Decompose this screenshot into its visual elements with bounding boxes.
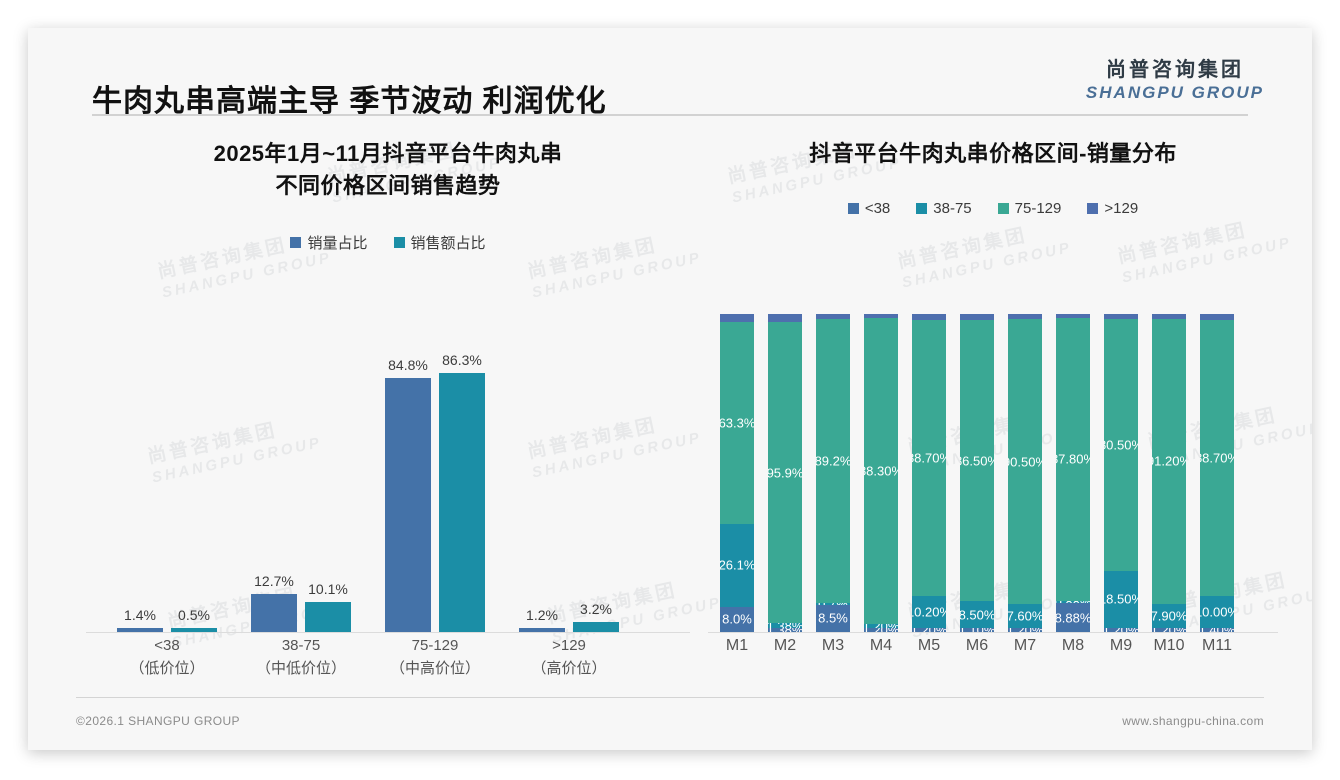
left-chart-x-tick-label: 38-75（中低价位） — [234, 635, 368, 680]
stacked-segment[interactable]: 90.50% — [1008, 319, 1042, 604]
segment-value-label: 26.1% — [720, 558, 754, 573]
stacked-segment[interactable]: 1.20% — [1008, 628, 1042, 632]
bar-value-label: 1.2% — [526, 607, 558, 623]
right-chart-x-axis-line — [708, 632, 1278, 633]
bar-fill — [573, 622, 619, 632]
legend-swatch-icon — [998, 203, 1009, 214]
legend-label: 75-129 — [1015, 200, 1062, 217]
legend-swatch-icon — [916, 203, 927, 214]
segment-value-label: 1.10% — [960, 628, 994, 632]
right-chart-legend: <3838-7575-129>129 — [708, 200, 1278, 217]
bar-fill — [171, 628, 217, 632]
stacked-segment[interactable]: 88.70% — [1200, 320, 1234, 597]
right-chart-stacked-column[interactable]: 2.6%63.3%26.1%8.0% — [720, 314, 754, 632]
chart-panel-right: 抖音平台牛肉丸串价格区间-销量分布 <3838-7575-129>129 2.6… — [708, 138, 1278, 698]
segment-value-label: 95.9% — [768, 465, 802, 480]
left-chart-bar[interactable]: 0.5% — [171, 628, 217, 632]
bar-value-label: 84.8% — [388, 357, 428, 373]
left-legend-item[interactable]: 销售额占比 — [394, 232, 486, 253]
stacked-segment[interactable]: 8.88% — [1056, 603, 1090, 632]
left-legend-item[interactable]: 销量占比 — [290, 232, 367, 253]
right-legend-item[interactable]: <38 — [848, 200, 890, 217]
stacked-segment[interactable]: 1.38% — [768, 628, 802, 632]
right-chart-x-tick-label: M6 — [960, 637, 994, 655]
bar-fill — [519, 628, 565, 632]
stacked-segment[interactable]: 10.00% — [1200, 596, 1234, 627]
bar-value-label: 0.5% — [178, 607, 210, 623]
right-chart-stacked-column[interactable]: 1.6%89.2%0.7%8.5% — [816, 314, 850, 632]
segment-value-label: 1.20% — [1008, 628, 1042, 632]
segment-value-label: 1.20% — [1104, 628, 1138, 632]
bar-value-label: 12.7% — [254, 573, 294, 589]
right-chart-x-tick-label: M8 — [1056, 637, 1090, 655]
right-chart-plot-area: 2.6%63.3%26.1%8.0%M12.6%95.9%1.38%1.38%M… — [708, 313, 1278, 633]
x-tick-sublabel: （中高价位） — [368, 658, 502, 681]
left-chart-title-line1: 2025年1月~11月抖音平台牛肉丸串 — [78, 138, 698, 170]
legend-label: 销量占比 — [307, 232, 367, 253]
stacked-segment[interactable]: 91.20% — [1152, 319, 1186, 604]
stacked-segment[interactable]: 8.5% — [816, 605, 850, 632]
right-chart-x-tick-label: M10 — [1152, 637, 1186, 655]
left-chart-x-tick-label: >129（高价位） — [502, 635, 636, 680]
left-chart-bar-group: 1.2%3.2% — [502, 622, 636, 632]
x-tick-range: <38 — [154, 637, 179, 654]
legend-label: <38 — [865, 200, 890, 217]
segment-value-label: 7.60% — [1008, 609, 1042, 624]
left-chart-title: 2025年1月~11月抖音平台牛肉丸串 不同价格区间销售趋势 — [78, 138, 698, 202]
bar-fill — [385, 378, 431, 632]
bar-value-label: 86.3% — [442, 352, 482, 368]
right-legend-item[interactable]: >129 — [1087, 200, 1138, 217]
right-chart-x-tick-label: M11 — [1200, 637, 1234, 655]
segment-value-label: 1.38% — [768, 628, 802, 632]
stacked-segment[interactable]: 2.6% — [720, 314, 754, 322]
segment-value-label: 7.90% — [1152, 608, 1186, 623]
stacked-segment[interactable]: 87.80% — [1056, 318, 1090, 601]
stacked-segment[interactable]: 1.20% — [864, 628, 898, 632]
left-chart-bar[interactable]: 1.2% — [519, 628, 565, 632]
brand-logo: 尚普咨询集团 SHANGPU GROUP — [1086, 60, 1264, 101]
left-chart-bar-group: 1.4%0.5% — [100, 628, 234, 632]
logo-chinese-text: 尚普咨询集团 — [1086, 60, 1264, 80]
stacked-segment[interactable]: 8.50% — [960, 601, 994, 629]
x-tick-range: >129 — [552, 637, 586, 654]
x-tick-sublabel: （低价位） — [100, 658, 234, 681]
slide-header: 牛肉丸串高端主导 季节波动 利润优化 尚普咨询集团 SHANGPU GROUP — [28, 28, 1312, 114]
bar-fill — [117, 628, 163, 632]
stacked-segment[interactable]: 1.20% — [1152, 628, 1186, 632]
segment-value-label: 91.20% — [1152, 454, 1186, 469]
stacked-segment[interactable]: 7.90% — [1152, 604, 1186, 629]
stacked-segment[interactable]: 95.9% — [768, 322, 802, 623]
left-chart-x-tick-label: 75-129（中高价位） — [368, 635, 502, 680]
right-chart-x-tick-label: M4 — [864, 637, 898, 655]
segment-value-label: 1.20% — [912, 628, 946, 632]
right-chart-x-tick-label: M5 — [912, 637, 946, 655]
legend-swatch-icon — [290, 237, 301, 248]
bar-fill — [251, 594, 297, 632]
left-chart-bar[interactable]: 12.7% — [251, 594, 297, 632]
left-chart-bar[interactable]: 84.8% — [385, 378, 431, 632]
stacked-segment[interactable]: 26.1% — [720, 524, 754, 607]
segment-value-label: 90.50% — [1008, 454, 1042, 469]
stacked-segment[interactable]: 88.70% — [912, 320, 946, 597]
bar-fill — [305, 602, 351, 632]
segment-value-label: 8.88% — [1056, 610, 1090, 625]
segment-value-label: 87.80% — [1056, 452, 1090, 467]
right-chart-stacked-column[interactable]: 1.60%91.20%7.90%1.20% — [1152, 314, 1186, 632]
segment-value-label: 86.50% — [960, 453, 994, 468]
right-chart-stacked-column[interactable]: 1.90%86.50%8.50%1.10% — [960, 314, 994, 632]
right-chart-x-tick-label: M3 — [816, 637, 850, 655]
left-chart-bar-group: 12.7%10.1% — [234, 594, 368, 632]
right-chart-x-tick-label: M2 — [768, 637, 802, 655]
slide-canvas: 牛肉丸串高端主导 季节波动 利润优化 尚普咨询集团 SHANGPU GROUP … — [28, 28, 1312, 750]
segment-value-label: 8.50% — [960, 607, 994, 622]
stacked-segment[interactable]: 89.2% — [816, 319, 850, 603]
segment-value-label: 88.70% — [912, 451, 946, 466]
segment-value-label: 10.20% — [912, 605, 946, 620]
right-chart-stacked-column[interactable]: 1.70%80.50%18.50%1.20% — [1104, 314, 1138, 632]
stacked-segment[interactable]: 10.20% — [912, 596, 946, 628]
logo-english-text: SHANGPU GROUP — [1086, 84, 1264, 101]
right-chart-x-tick-label: M9 — [1104, 637, 1138, 655]
footer-copyright: ©2026.1 SHANGPU GROUP — [76, 714, 240, 728]
right-chart-stacked-column[interactable]: 2.6%95.9%1.38%1.38% — [768, 314, 802, 632]
legend-label: 销售额占比 — [411, 232, 486, 253]
bar-value-label: 3.2% — [580, 601, 612, 617]
segment-value-label: 8.5% — [818, 611, 848, 626]
left-chart-plot-area: 1.4%0.5%<38（低价位）12.7%10.1%38-75（中低价位）84.… — [78, 313, 698, 633]
segment-value-label: 80.50% — [1104, 437, 1138, 452]
left-chart-x-tick-label: <38（低价位） — [100, 635, 234, 680]
footer-website: www.shangpu-china.com — [1122, 714, 1264, 728]
right-chart-x-tick-label: M7 — [1008, 637, 1042, 655]
stacked-segment[interactable]: 1.40% — [1200, 628, 1234, 632]
header-divider — [92, 114, 1248, 116]
right-chart-stacked-column[interactable]: 1.20%88.30%1.20%1.20% — [864, 314, 898, 632]
stacked-segment[interactable]: 1.10% — [960, 628, 994, 632]
x-tick-range: 38-75 — [282, 637, 320, 654]
left-chart-bar[interactable]: 3.2% — [573, 622, 619, 632]
segment-value-label: 88.70% — [1200, 451, 1234, 466]
bar-value-label: 10.1% — [308, 581, 348, 597]
right-chart-stacked-column[interactable]: 1.90%88.70%10.20%1.20% — [912, 314, 946, 632]
x-tick-sublabel: （高价位） — [502, 658, 636, 681]
stacked-segment[interactable]: 1.20% — [1104, 628, 1138, 632]
stacked-segment[interactable]: 1.20% — [912, 628, 946, 632]
x-tick-range: 75-129 — [412, 637, 459, 654]
right-chart-title: 抖音平台牛肉丸串价格区间-销量分布 — [708, 138, 1278, 170]
left-chart-bar[interactable]: 1.4% — [117, 628, 163, 632]
x-tick-sublabel: （中低价位） — [234, 658, 368, 681]
right-chart-stacked-column[interactable]: 1.70%90.50%7.60%1.20% — [1008, 314, 1042, 632]
segment-value-label: 89.2% — [816, 453, 850, 468]
bar-fill — [439, 373, 485, 632]
bar-value-label: 1.4% — [124, 607, 156, 623]
segment-value-label: 88.30% — [864, 463, 898, 478]
left-chart-legend: 销量占比销售额占比 — [78, 232, 698, 253]
legend-swatch-icon — [1087, 203, 1098, 214]
segment-value-label: 10.00% — [1200, 605, 1234, 620]
segment-value-label: 1.20% — [864, 628, 898, 632]
segment-value-label: 1.40% — [1200, 628, 1234, 632]
stacked-segment[interactable]: 8.0% — [720, 607, 754, 632]
stacked-segment[interactable]: 80.50% — [1104, 319, 1138, 570]
right-legend-item[interactable]: 75-129 — [998, 200, 1062, 217]
stacked-segment[interactable]: 88.30% — [864, 318, 898, 624]
stacked-segment[interactable]: 18.50% — [1104, 571, 1138, 629]
right-chart-stacked-column[interactable]: 1.20%87.80%0.88%8.88% — [1056, 314, 1090, 632]
segment-value-label: 8.0% — [722, 612, 752, 627]
left-chart-title-line2: 不同价格区间销售趋势 — [78, 170, 698, 202]
left-chart-bar-group: 84.8%86.3% — [368, 373, 502, 632]
legend-label: 38-75 — [933, 200, 971, 217]
legend-swatch-icon — [394, 237, 405, 248]
segment-value-label: 63.3% — [720, 415, 754, 430]
stacked-segment[interactable]: 86.50% — [960, 320, 994, 601]
legend-swatch-icon — [848, 203, 859, 214]
left-chart-bar[interactable]: 10.1% — [305, 602, 351, 632]
right-legend-item[interactable]: 38-75 — [916, 200, 971, 217]
stacked-segment[interactable]: 63.3% — [720, 322, 754, 523]
chart-panel-left: 2025年1月~11月抖音平台牛肉丸串 不同价格区间销售趋势 销量占比销售额占比… — [78, 138, 698, 698]
legend-label: >129 — [1104, 200, 1138, 217]
right-chart-stacked-column[interactable]: 1.90%88.70%10.00%1.40% — [1200, 314, 1234, 632]
left-chart-bar[interactable]: 86.3% — [439, 373, 485, 632]
left-chart-x-axis-line — [86, 632, 690, 633]
stacked-segment[interactable]: 2.6% — [768, 314, 802, 322]
segment-value-label: 1.20% — [1152, 628, 1186, 632]
segment-value-label: 18.50% — [1104, 592, 1138, 607]
right-chart-x-tick-label: M1 — [720, 637, 754, 655]
footer-divider — [76, 697, 1264, 698]
stacked-segment[interactable]: 7.60% — [1008, 604, 1042, 628]
